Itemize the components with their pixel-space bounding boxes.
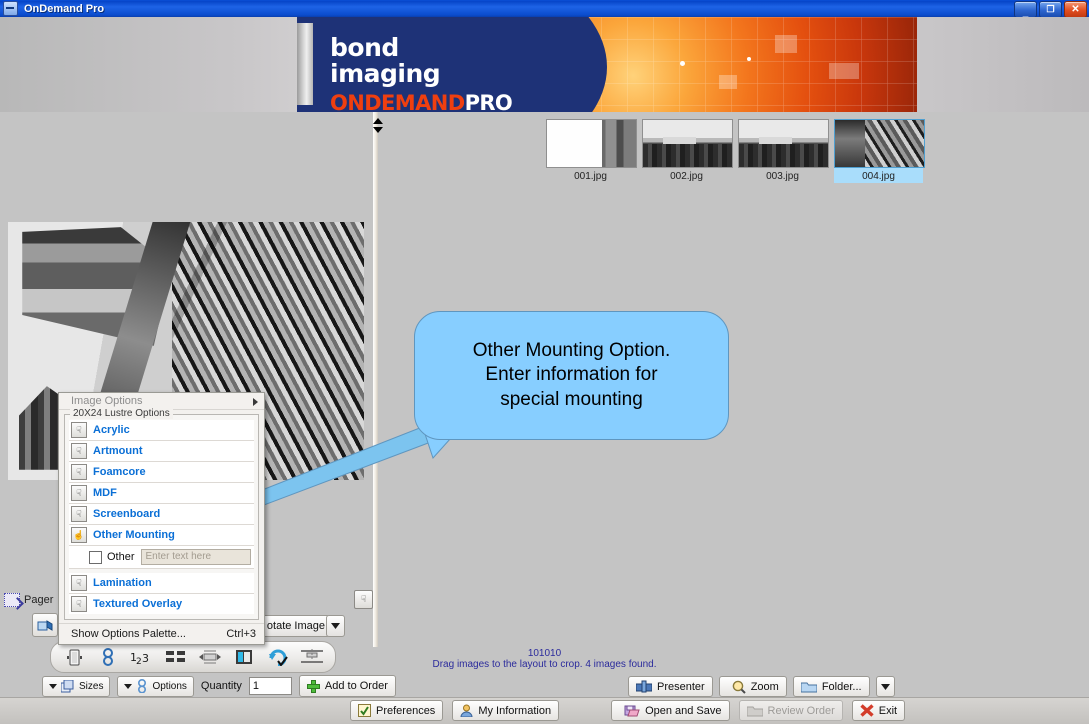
page-layout-icon [4,593,20,607]
menu-footer-label: Show Options Palette... [71,628,186,640]
presenter-button[interactable]: Presenter [628,676,713,697]
chevron-double-down-icon[interactable]: ☟ [71,464,87,480]
chevron-double-up-icon[interactable]: ☝ [71,527,87,543]
thumbnail-image[interactable] [642,119,733,168]
footer-button-bar: Preferences My Information Open and Save… [350,700,905,721]
thumbnail-caption: 001.jpg [546,168,635,183]
option-row-acrylic[interactable]: ☟ Acrylic [69,420,254,441]
option-label: Foamcore [93,466,146,478]
options-button[interactable]: Options [117,676,193,697]
chevron-double-down-icon: ☟ [361,594,366,605]
rotate-image-button[interactable]: otate Image [256,615,330,637]
callout-line-3: special mounting [500,389,643,410]
thumbnail-item-002[interactable]: 002.jpg [642,119,731,183]
layout-grid-icon[interactable] [163,646,189,668]
folder-button[interactable]: Folder... [793,676,870,697]
chevron-double-down-icon[interactable]: ☟ [71,485,87,501]
thumbnail-caption: 003.jpg [738,168,827,183]
folder-label: Folder... [822,681,862,693]
caret-down-icon [331,623,340,629]
other-checkbox-label: Other [107,551,135,563]
layout-collapse-button[interactable]: ☟ [354,590,373,609]
presenter-label: Presenter [657,681,705,693]
close-button[interactable]: ✕ [1064,1,1087,18]
app-window-icon [3,1,18,16]
banner-square-2 [829,63,859,79]
svg-text:2: 2 [136,657,142,665]
thumbnail-item-004[interactable]: 004.jpg [834,119,923,183]
checkbox-settings-icon [358,704,371,717]
app-banner: bond imaging ONDEMANDPRO [0,17,1089,112]
caret-down-icon [881,684,890,690]
option-label: MDF [93,487,117,499]
menu-header-label: Image Options [71,395,143,407]
panel-splitter[interactable] [373,112,378,647]
callout-line-2: Enter information for [485,364,657,385]
logo-ondemand-text: ONDEMAND [330,91,465,112]
open-and-save-label: Open and Save [645,705,721,717]
numbering-icon[interactable]: 123 [129,646,155,668]
thumbnail-image[interactable] [546,119,637,168]
rotate-image-label: otate Image [267,620,325,632]
bond-imaging-logo: bond imaging ONDEMANDPRO [330,35,512,112]
preferences-label: Preferences [376,705,435,717]
image-tools-toolbar: 123 [50,641,336,673]
chevron-double-down-icon[interactable]: ☟ [71,443,87,459]
flip-image-button[interactable] [32,613,58,637]
quantity-label: Quantity [201,680,242,692]
add-to-order-label: Add to Order [325,680,388,692]
caret-down-icon [49,684,57,689]
triangle-left-icon[interactable] [373,118,383,124]
user-icon [460,704,473,717]
align-distribute-icon[interactable] [299,646,325,668]
sizes-label: Sizes [79,681,103,692]
my-information-label: My Information [478,705,551,717]
zoom-label: Zoom [751,681,779,693]
option-label: Lamination [93,577,152,589]
option-label: Artmount [93,445,143,457]
close-icon: ✕ [1071,5,1079,15]
chevron-double-down-icon[interactable]: ☟ [71,596,87,612]
option-row-foamcore[interactable]: ☟ Foamcore [69,462,254,483]
zoom-button[interactable]: Zoom [719,676,787,697]
chevron-double-down-icon[interactable]: ☟ [71,506,87,522]
rotate-image-dropdown-button[interactable] [326,615,345,637]
logo-product-name: ONDEMANDPRO [330,93,512,112]
other-checkbox[interactable] [89,551,102,564]
triangle-right-icon [253,398,258,406]
preferences-button[interactable]: Preferences [350,700,443,721]
banner-left-tab [297,23,313,105]
open-and-save-button[interactable]: Open and Save [611,700,729,721]
option-row-other-mounting[interactable]: ☝ Other Mounting [69,525,254,546]
logo-line-imaging: imaging [330,61,512,86]
options-label: Options [152,681,186,692]
review-order-icon [747,704,763,717]
chevron-double-down-icon[interactable]: ☟ [71,575,87,591]
banner-dot-1 [680,61,685,66]
sizes-button[interactable]: Sizes [42,676,110,697]
thumbnail-caption: 004.jpg [834,168,923,183]
pager-label: Pager [24,594,53,606]
folder-icon [801,680,817,693]
option-row-textured-overlay[interactable]: ☟ Textured Overlay [69,594,254,614]
option-row-screenboard[interactable]: ☟ Screenboard [69,504,254,525]
callout-bubble: Other Mounting Option. Enter information… [414,311,729,440]
menu-item-show-options-palette[interactable]: Show Options Palette... Ctrl+3 [59,623,264,644]
logo-pro-text: PRO [465,91,513,112]
window-title-bar[interactable]: OnDemand Pro _ ❐ ✕ [0,0,1089,17]
maximize-icon: ❐ [1046,5,1054,14]
exit-label: Exit [879,705,897,717]
option-row-mdf[interactable]: ☟ MDF [69,483,254,504]
thumbnail-image[interactable] [834,119,925,168]
window-title: OnDemand Pro [24,3,104,15]
center-horizontal-icon[interactable] [197,646,223,668]
add-to-order-button[interactable]: Add to Order [299,675,396,697]
thumbnail-strip: 001.jpg 002.jpg 003.jpg 004.jpg [546,119,923,183]
thumbnail-image[interactable] [738,119,829,168]
caret-down-icon [124,684,132,689]
my-information-button[interactable]: My Information [452,700,559,721]
exit-button[interactable]: Exit [852,700,905,721]
thumbnail-item-001[interactable]: 001.jpg [546,119,635,183]
triangle-right-icon[interactable] [373,127,383,133]
callout-text: Other Mounting Option. Enter information… [473,339,671,412]
banner-square-1 [775,35,797,53]
banner-dot-2 [747,57,751,61]
chevron-double-down-icon[interactable]: ☟ [71,422,87,438]
double-print-icon[interactable] [95,646,121,668]
presenter-icon [636,680,652,693]
open-save-icon [624,704,640,717]
flip-image-icon [37,619,53,632]
rotate-apply-icon[interactable] [265,646,291,668]
folder-dropdown-button[interactable] [876,676,895,697]
exit-x-icon [860,704,874,717]
group-legend-label: 20X24 Lustre Options [70,408,173,419]
person-options-icon [136,679,148,693]
banner-square-3 [719,75,737,89]
option-row-artmount[interactable]: ☟ Artmount [69,441,254,462]
magnifier-icon [732,680,746,694]
option-label: Textured Overlay [93,598,182,610]
window-controls: _ ❐ ✕ [1014,1,1087,18]
review-order-label: Review Order [768,705,835,717]
green-plus-icon [307,680,320,693]
order-action-bar: Sizes Options Quantity 1 Add to Order [42,675,396,697]
maximize-button[interactable]: ❐ [1039,1,1062,18]
option-label: Acrylic [93,424,130,436]
review-order-button: Review Order [739,700,843,721]
minimize-icon: _ [1023,8,1029,18]
thumbnail-caption: 002.jpg [642,168,731,183]
minimize-button[interactable]: _ [1014,1,1037,18]
stacked-pages-icon [61,680,75,693]
callout-line-1: Other Mounting Option. [473,340,671,361]
fill-frame-icon[interactable] [231,646,257,668]
thumbnail-item-003[interactable]: 003.jpg [738,119,827,183]
option-label: Other Mounting [93,529,175,541]
lustre-options-group: 20X24 Lustre Options ☟ Acrylic ☟ Artmoun… [64,414,259,620]
other-text-input[interactable]: Enter text here [141,549,251,565]
logo-line-bond: bond [330,33,399,62]
option-label: Screenboard [93,508,160,520]
quantity-input[interactable]: 1 [249,677,292,695]
other-mounting-subrow[interactable]: Other Enter text here [69,546,254,569]
image-options-popup-menu[interactable]: Image Options 20X24 Lustre Options ☟ Acr… [58,392,265,645]
option-row-lamination[interactable]: ☟ Lamination [69,573,254,594]
orientation-portrait-icon[interactable] [61,646,87,668]
svg-text:3: 3 [142,652,149,665]
menu-footer-shortcut: Ctrl+3 [226,628,256,640]
right-button-bar: Presenter Zoom Folder... [628,676,895,697]
pager-control[interactable]: Pager [4,593,53,607]
